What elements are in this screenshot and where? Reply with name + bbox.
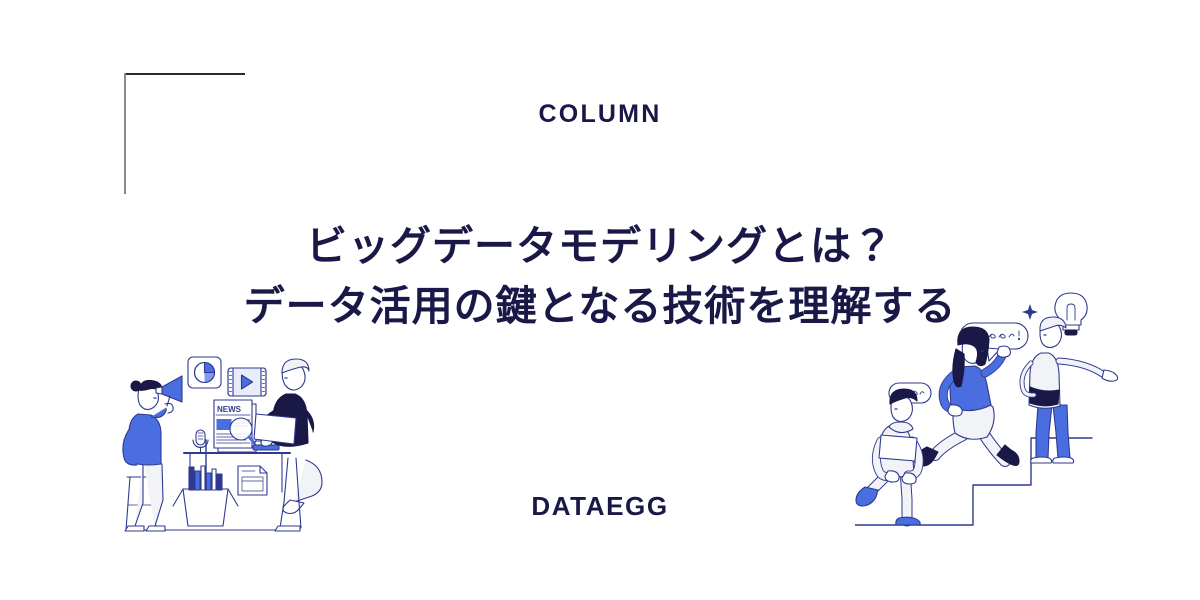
document-file-icon bbox=[238, 466, 267, 495]
corner-bracket-decoration bbox=[124, 73, 245, 194]
eyebrow-label: COLUMN bbox=[0, 99, 1200, 129]
video-player-card bbox=[228, 368, 266, 396]
running-woman bbox=[915, 323, 1028, 466]
walking-person-with-document bbox=[856, 383, 931, 525]
corner-bracket-horizontal-line bbox=[124, 73, 245, 75]
corner-bracket-vertical-line bbox=[124, 73, 126, 194]
media-team-illustration: NEWS bbox=[110, 340, 375, 545]
megaphone bbox=[156, 376, 182, 406]
pointing-man bbox=[1022, 317, 1118, 463]
stairs-climbing-illustration bbox=[855, 275, 1145, 543]
newspaper-with-magnifier: NEWS bbox=[214, 400, 257, 452]
page-title-line-1: ビッグデータモデリングとは？ bbox=[0, 216, 1200, 276]
news-label: NEWS bbox=[217, 405, 242, 414]
woman-with-megaphone bbox=[123, 376, 182, 531]
pie-chart-card bbox=[188, 357, 221, 388]
column-hero-banner: COLUMN ビッグデータモデリングとは？ データ活用の鍵となる技術を理解する … bbox=[0, 0, 1200, 600]
